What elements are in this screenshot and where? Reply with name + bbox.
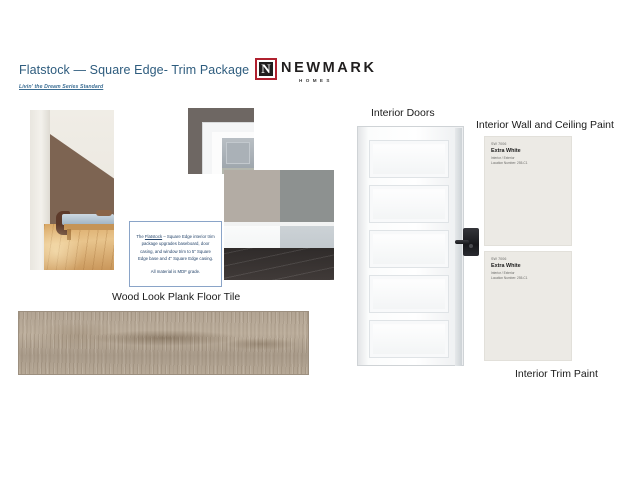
logo-square-icon: N [255,58,277,80]
logo-tagline: HOMES [299,78,333,83]
page-subtitle: Livin' the Dream Series Standard [19,84,103,90]
door-handle-image [455,228,479,256]
heading-interior-doors: Interior Doors [371,107,435,119]
wood-look-plank-tile-sample [18,311,309,375]
swatch-use: Interior / Exterior [491,271,515,275]
callout-paragraph-2: All material is MDF grade. [151,268,200,276]
plank-grain-texture [19,312,309,375]
swatch-code: SW 7006 [491,257,506,261]
callout-paragraph-1: The Flatstock – Square Edge interior tri… [135,233,216,263]
heading-wood-look-plank-floor-tile: Wood Look Plank Floor Tile [112,291,240,303]
door-panel-5 [369,320,449,358]
bedroom-sunlight-glow [44,224,84,270]
callout-line1-prefix: The [136,234,145,239]
page-title: Flatstock — Square Edge- Trim Package [19,63,249,77]
newmark-homes-logo: N NEWMARK HOMES [255,58,363,92]
logo-letter-n: N [259,62,273,76]
baseboard-wall-left [224,170,280,228]
casing-door-panel [226,142,250,164]
paint-swatch-trim: SW 7006 Extra White Interior / Exterior … [484,251,572,361]
door-panel-4 [369,275,449,313]
logo-wordmark: NEWMARK [281,60,377,76]
bed-pillow [96,210,112,216]
baseboard-floor-plank-lines [224,248,334,280]
swatch-location-number: Location Number: 255-C1 [491,276,528,280]
door-panel-2 [369,185,449,223]
callout-flatstock-term: Flatstock [145,234,162,239]
selection-board: Flatstock — Square Edge- Trim Package Li… [0,0,640,480]
trim-package-callout: The Flatstock – Square Edge interior tri… [129,221,222,287]
door-handle-lever [455,240,469,244]
door-handle-keyhole-icon [469,244,473,248]
swatch-name: Extra White [491,148,521,154]
swatch-use: Interior / Exterior [491,156,515,160]
door-panel-3 [369,230,449,268]
heading-interior-wall-and-ceiling-paint: Interior Wall and Ceiling Paint [476,119,614,131]
swatch-name: Extra White [491,263,521,269]
baseboard-detail-photo [224,170,334,280]
door-panel-1 [369,140,449,178]
bedroom-photo [30,110,114,270]
swatch-code: SW 7006 [491,142,506,146]
swatch-location-number: Location Number: 255-C1 [491,161,528,165]
door-slab [357,126,464,366]
door-casing-detail-photo [188,108,254,174]
paint-swatch-wall-ceiling: SW 7006 Extra White Interior / Exterior … [484,136,572,246]
baseboard-wall-right [280,170,334,228]
interior-door-image [357,126,464,366]
heading-interior-trim-paint: Interior Trim Paint [515,368,598,380]
